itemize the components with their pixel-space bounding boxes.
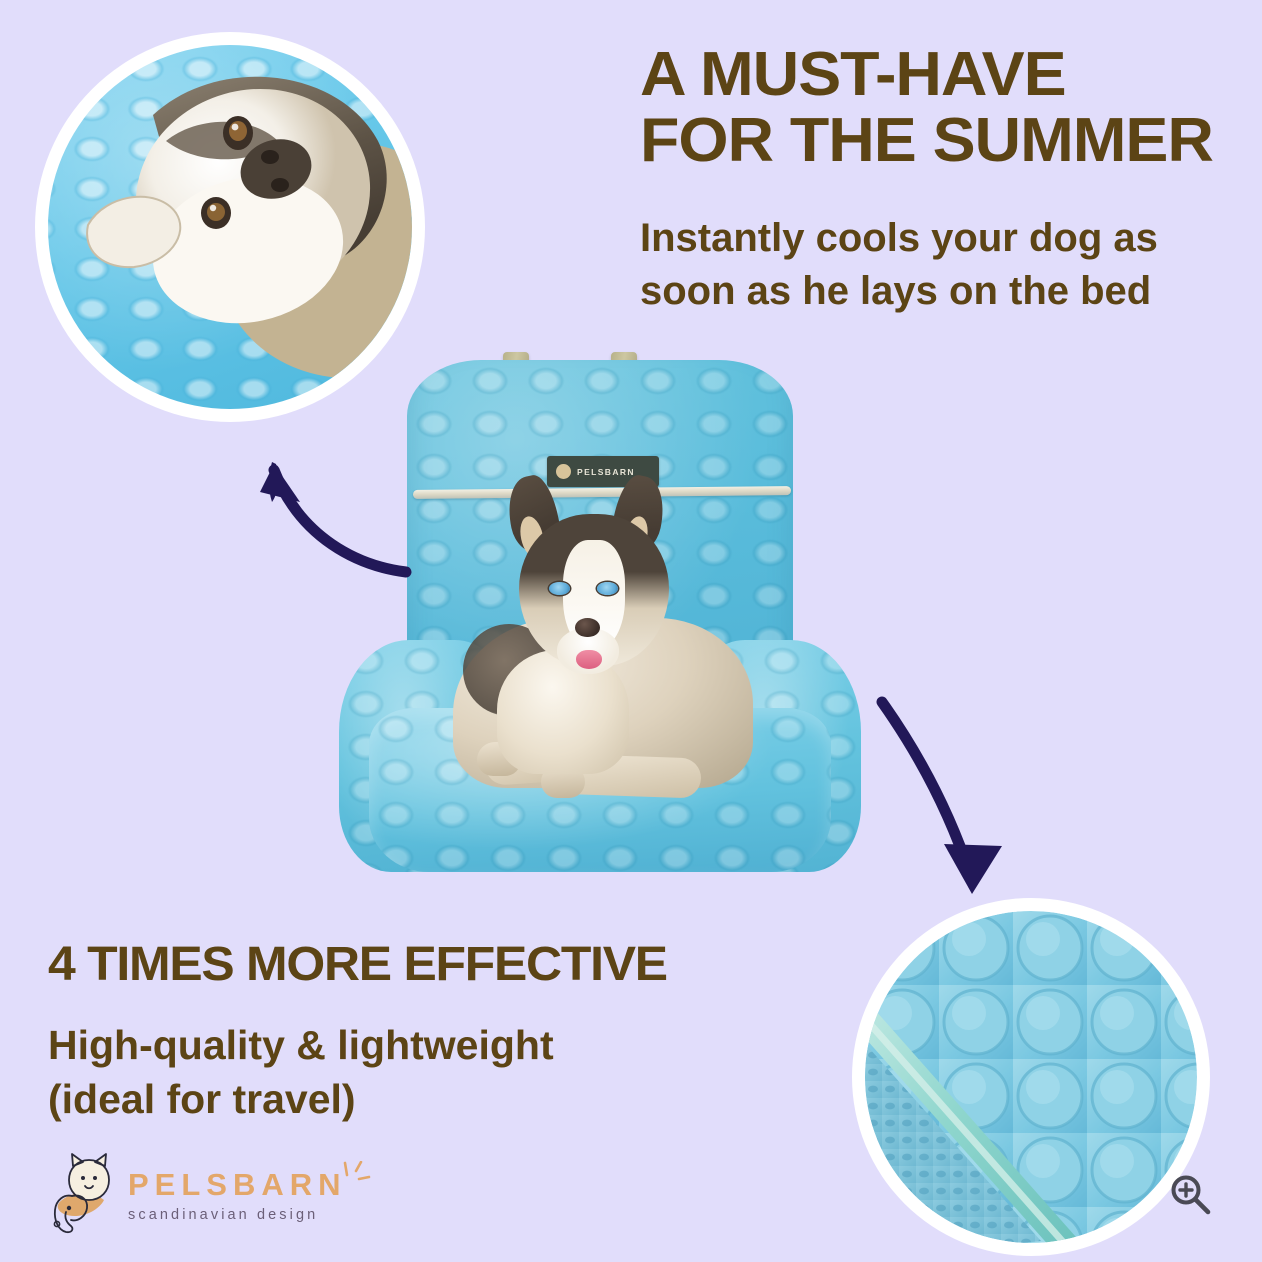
husky-eye-left xyxy=(549,582,570,595)
sparkle-icon xyxy=(339,1161,373,1187)
page-subcopy-bottom: High-quality & lightweight (ideal for tr… xyxy=(48,1018,554,1126)
zoom-in-icon[interactable] xyxy=(1168,1172,1212,1216)
brand-logo[interactable]: PELSBARN scandinavian design xyxy=(48,1150,347,1242)
husky-nose xyxy=(575,618,600,637)
product-image-pet-bed[interactable]: PELSBARN xyxy=(335,352,865,872)
logo-name: PELSBARN xyxy=(128,1169,347,1200)
fabric-closeup-illustration xyxy=(865,911,1197,1243)
page-headline-bottom: 4 TIMES MORE EFFECTIVE xyxy=(48,940,667,991)
product-dog-husky xyxy=(445,498,765,798)
page-subcopy-top: Instantly cools your dog as soon as he l… xyxy=(640,212,1158,318)
logo-wordmark: PELSBARN scandinavian design xyxy=(128,1169,347,1223)
inset-photo-fabric-closeup-image xyxy=(865,911,1197,1243)
curved-arrow-down-right-icon xyxy=(852,688,1032,918)
advertisement-canvas: A MUST-HAVE FOR THE SUMMER Instantly coo… xyxy=(0,0,1262,1262)
page-headline-top: A MUST-HAVE FOR THE SUMMER xyxy=(640,42,1213,173)
brand-tag-label: PELSBARN xyxy=(577,467,635,477)
husky-eye-right xyxy=(597,582,618,595)
logo-tagline: scandinavian design xyxy=(128,1208,347,1223)
husky-tongue xyxy=(576,650,602,669)
inset-photo-fabric-closeup[interactable] xyxy=(852,898,1210,1256)
curved-arrow-up-left-icon xyxy=(238,440,428,600)
cat-and-dog-icon xyxy=(48,1150,114,1242)
brand-tag-paw-icon xyxy=(556,464,571,479)
husky-chest xyxy=(497,650,629,774)
